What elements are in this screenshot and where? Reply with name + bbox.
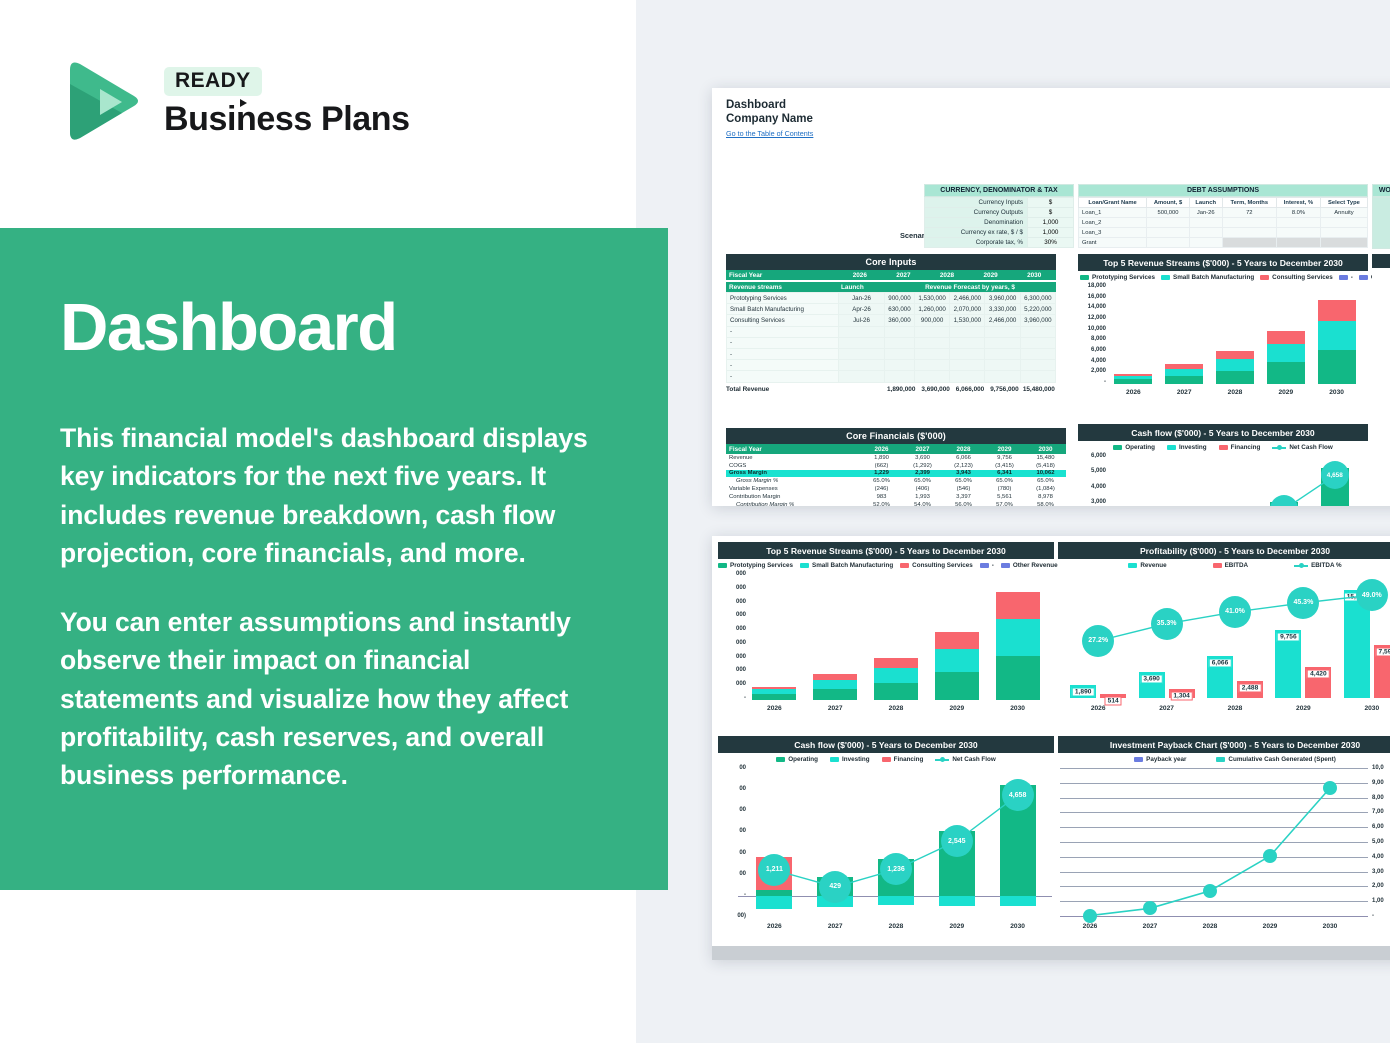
legend-swatch <box>900 563 909 568</box>
stream-value[interactable] <box>885 348 915 359</box>
chart-revenue-streams-top: Top 5 Revenue Streams ($'000) - 5 Years … <box>1078 254 1368 419</box>
legend-item[interactable]: Prototyping Services <box>1080 274 1155 281</box>
legend-item[interactable]: - <box>1339 274 1353 281</box>
legend-swatch <box>1294 565 1308 567</box>
financial-value: 5,561 <box>984 493 1025 501</box>
legend-swatch <box>800 563 809 568</box>
currency-value[interactable]: 30% <box>1028 238 1074 248</box>
table-row: Variable Expenses(246)(406)(546)(780)(1,… <box>726 485 1066 493</box>
stacked-bar[interactable] <box>1318 300 1356 384</box>
stream-launch[interactable] <box>839 360 885 371</box>
stacked-bar[interactable] <box>874 658 918 700</box>
chart-plot-area: 202620272028202920301,8905143,6901,3046,… <box>1058 570 1390 718</box>
chart-cash-flow-top: Cash flow ($'000) - 5 Years to December … <box>1078 424 1368 506</box>
legend-item[interactable]: Operating <box>1113 444 1155 451</box>
legend-label: Operating <box>788 756 818 763</box>
stream-value[interactable] <box>914 337 949 348</box>
chart-profitability: Profitability ($'000) - 5 Years to Decem… <box>1058 542 1390 732</box>
financial-line-label: Revenue <box>726 454 861 462</box>
stream-value[interactable]: 1,530,000 <box>914 293 949 304</box>
data-bubble: 1,211 <box>758 854 790 886</box>
stream-launch[interactable]: Jan-26 <box>839 293 885 304</box>
data-bubble: 429 <box>819 871 851 903</box>
currency-row: Corporate tax, %30% <box>925 238 1074 248</box>
x-axis: 20262027202820292030 <box>718 702 1054 718</box>
stream-value[interactable]: 3,330,000 <box>985 304 1020 315</box>
financial-value: 2,399 <box>902 470 943 478</box>
bar-segment <box>996 592 1040 620</box>
y-tick-label: 10,000 <box>1088 326 1106 332</box>
debt-cell[interactable] <box>1189 228 1222 238</box>
debt-cell[interactable]: Annuity <box>1320 208 1367 218</box>
currency-value[interactable]: 1,000 <box>1028 228 1074 238</box>
currency-key: Currency ex rate, $ / $ <box>925 228 1028 238</box>
legend-item[interactable]: Prototyping Services <box>718 562 793 569</box>
stream-value[interactable]: 2,466,000 <box>950 293 985 304</box>
stacked-bar[interactable] <box>813 674 857 700</box>
stream-launch[interactable] <box>839 348 885 359</box>
stream-value[interactable] <box>985 371 1020 382</box>
bar-segment <box>752 694 796 700</box>
currency-key: Currency Inputs <box>925 198 1028 208</box>
chart-title: Cash flow ($'000) - 5 Years to December … <box>1078 424 1368 441</box>
stream-name[interactable]: - <box>727 326 839 337</box>
table-row: COGS(662)(1,292)(2,123)(3,415)(5,418) <box>726 462 1066 470</box>
y-tick-label: 14,000 <box>1088 304 1106 310</box>
debt-cell[interactable]: Loan_2 <box>1079 218 1147 228</box>
legend-item[interactable]: Financing <box>882 756 924 763</box>
y-tick-label: 4,000 <box>1091 358 1106 364</box>
stream-value[interactable]: 630,000 <box>885 304 915 315</box>
stream-value[interactable]: 900,000 <box>914 315 949 326</box>
legend-label: Cumulative Cash Generated (Spent) <box>1228 756 1335 763</box>
financial-value: (2,123) <box>943 462 984 470</box>
bar-segment <box>935 649 979 672</box>
stream-name[interactable]: - <box>727 337 839 348</box>
financial-line-label: Contribution Margin % <box>726 501 861 506</box>
core-financials-year-header: Fiscal Year 2026 2027 2028 2029 2030 <box>726 444 1066 454</box>
legend-label: Financing <box>894 756 924 763</box>
table-row: Gross Margin1,2292,3993,9436,34110,062 <box>726 470 1066 478</box>
stream-value[interactable] <box>985 348 1020 359</box>
currency-key: Denomination <box>925 218 1028 228</box>
hero-paragraph-2: You can enter assumptions and instantly … <box>60 603 612 795</box>
bar-segment <box>874 683 918 700</box>
forecast-label: Revenue Forecast by years, $ <box>884 282 1056 292</box>
stream-value[interactable] <box>985 326 1020 337</box>
table-row: Grant <box>1079 238 1368 248</box>
currency-block-header: CURRENCY, DENOMINATOR & TAX <box>924 184 1074 197</box>
x-tick-label: 2027 <box>828 705 843 712</box>
table-row: - <box>727 337 1056 348</box>
table-row: - <box>727 326 1056 337</box>
stacked-bar[interactable] <box>1267 331 1305 384</box>
bar-segment <box>935 632 979 649</box>
currency-value[interactable]: 1,000 <box>1028 218 1074 228</box>
x-tick-label: 2028 <box>1228 389 1243 396</box>
y-tick-label: 8,000 <box>1091 336 1106 342</box>
bar-segment <box>813 680 857 689</box>
bar-segment <box>1114 379 1152 384</box>
legend-swatch <box>1134 757 1143 762</box>
stream-value[interactable] <box>1020 348 1055 359</box>
stream-value[interactable] <box>885 337 915 348</box>
data-point-marker <box>1143 901 1157 915</box>
debt-cell[interactable]: 8.0% <box>1277 208 1321 218</box>
stream-value[interactable] <box>985 337 1020 348</box>
revenue-streams-label: Revenue streams <box>726 282 838 292</box>
pct-bubble: 49.0% <box>1356 579 1388 611</box>
table-row: Gross Margin %65.0%65.0%65.0%65.0%65.0% <box>726 477 1066 485</box>
core-financials-title: Core Financials ($'000) <box>726 428 1066 444</box>
legend-item[interactable]: Payback year <box>1134 756 1186 763</box>
legend-item[interactable]: Other Revenue <box>1001 562 1058 569</box>
financial-line-label: COGS <box>726 462 861 470</box>
core-financials-table: Revenue1,8903,6906,0669,75615,480COGS(66… <box>726 454 1066 506</box>
legend-swatch <box>1167 445 1176 450</box>
stream-value[interactable]: 1,530,000 <box>950 315 985 326</box>
legend-label: Revenue <box>1140 562 1166 569</box>
stacked-bar[interactable] <box>752 687 796 700</box>
legend-label: - <box>1351 274 1353 281</box>
debt-cell[interactable] <box>1277 228 1321 238</box>
legend-item[interactable]: Small Batch Manufacturing <box>800 562 893 569</box>
stream-value[interactable] <box>914 326 949 337</box>
stream-launch[interactable]: Jul-26 <box>839 315 885 326</box>
pct-bubble: 35.3% <box>1151 608 1183 640</box>
legend-label: Small Batch Manufacturing <box>1173 274 1254 281</box>
debt-column-header: Loan/Grant Name <box>1079 198 1147 208</box>
legend-swatch <box>1359 275 1368 280</box>
stream-name[interactable]: Prototyping Services <box>727 293 839 304</box>
x-tick-label: 2028 <box>889 705 904 712</box>
debt-assumptions-block: DEBT ASSUMPTIONS Loan/Grant NameAmount, … <box>1078 184 1368 248</box>
chart-revenue-streams-bottom: Top 5 Revenue Streams ($'000) - 5 Years … <box>718 542 1054 732</box>
bar-segment <box>1165 376 1203 384</box>
legend-label: Investing <box>1179 444 1207 451</box>
financial-value: (5,418) <box>1025 462 1066 470</box>
stream-value[interactable]: 1,260,000 <box>914 304 949 315</box>
bar-segment <box>1165 369 1203 376</box>
financial-value: 8,978 <box>1025 493 1066 501</box>
y-axis: -2,0004,0006,0008,00010,00012,00014,0001… <box>1078 282 1108 402</box>
legend-swatch <box>830 757 839 762</box>
stream-value[interactable]: 5,220,000 <box>1020 304 1055 315</box>
legend-swatch <box>935 759 949 761</box>
financial-line-label: Variable Expenses <box>726 485 861 493</box>
legend-swatch <box>1339 275 1348 280</box>
pct-bubble: 45.3% <box>1287 587 1319 619</box>
table-row: Contribution Margin %52.0%54.0%56.0%57.0… <box>726 501 1066 506</box>
financial-value: 54.0% <box>902 501 943 506</box>
dashboard-screenshot-top: Dashboard Company Name Go to the Table o… <box>712 88 1390 506</box>
bar-segment <box>813 689 857 700</box>
core-inputs-table: Prototyping ServicesJan-26900,0001,530,0… <box>726 292 1056 383</box>
working-capital-block: WORKING CAPITAL A De <box>1372 184 1390 249</box>
y-tick-label: 2,000 <box>1091 368 1106 374</box>
financial-value: 52.0% <box>861 501 902 506</box>
stream-launch[interactable] <box>839 337 885 348</box>
stacked-bar[interactable] <box>1216 351 1254 384</box>
play-logo-icon <box>60 58 142 144</box>
debt-cell[interactable] <box>1222 228 1276 238</box>
financial-value: 3,397 <box>943 493 984 501</box>
chart-legend: OperatingInvestingFinancingNet Cash Flow <box>718 753 1054 764</box>
stream-value[interactable] <box>1020 360 1055 371</box>
legend-swatch <box>1080 275 1089 280</box>
table-row: Loan_3 <box>1079 228 1368 238</box>
y-tick-label: 18,000 <box>1088 283 1106 289</box>
stacked-bar[interactable] <box>996 592 1040 700</box>
financial-value: 9,756 <box>984 454 1025 462</box>
chart-plot-area: -2,0004,0006,0008,00010,00012,00014,0001… <box>1078 282 1368 402</box>
stacked-bar[interactable] <box>1114 374 1152 384</box>
legend-item[interactable]: - <box>980 562 994 569</box>
financial-value: 58.0% <box>1025 501 1066 506</box>
stream-value[interactable]: 2,070,000 <box>950 304 985 315</box>
debt-column-header: Interest, % <box>1277 198 1321 208</box>
bar-segment <box>1318 300 1356 322</box>
bar-segment <box>996 619 1040 656</box>
core-inputs-section: Core Inputs Fiscal Year 2026 2027 2028 2… <box>726 254 1056 393</box>
debt-cell[interactable] <box>1189 238 1222 248</box>
bar-segment <box>996 656 1040 700</box>
stacked-bar[interactable] <box>935 632 979 700</box>
debt-column-header: Launch <box>1189 198 1222 208</box>
debt-cell[interactable]: Loan_1 <box>1079 208 1147 218</box>
legend-item[interactable]: EBITDA <box>1213 562 1248 569</box>
core-inputs-subheader: Revenue streams Launch Revenue Forecast … <box>726 282 1056 292</box>
working-capital-body: A De <box>1372 197 1390 249</box>
x-tick-label: 2027 <box>1177 389 1192 396</box>
legend-item[interactable]: Net Cash Flow <box>935 756 995 763</box>
legend-swatch <box>1216 757 1225 762</box>
bar-segment <box>935 672 979 700</box>
debt-table: Loan/Grant NameAmount, $LaunchTerm, Mont… <box>1078 197 1368 248</box>
y-tick-label: 6,000 <box>1091 347 1106 353</box>
data-bubble: 4,658 <box>1002 779 1034 811</box>
financial-value: (406) <box>902 485 943 493</box>
stream-value[interactable] <box>885 371 915 382</box>
financial-value: 6,341 <box>984 470 1025 478</box>
year-2027: 2027 <box>882 270 926 280</box>
x-tick-label: 2030 <box>1010 705 1025 712</box>
debt-cell[interactable] <box>1189 218 1222 228</box>
stream-value[interactable] <box>985 360 1020 371</box>
bars-container <box>744 572 1048 700</box>
stream-value[interactable] <box>950 326 985 337</box>
legend-swatch <box>1113 445 1122 450</box>
chart-legend: OperatingInvestingFinancingNet Cash Flow <box>1078 441 1368 452</box>
financial-value: 65.0% <box>943 477 984 485</box>
currency-key: Currency Outputs <box>925 208 1028 218</box>
fiscal-year-label: Fiscal Year <box>726 270 838 280</box>
stream-value[interactable]: 3,960,000 <box>985 293 1020 304</box>
stream-value[interactable]: 6,300,000 <box>1020 293 1055 304</box>
debt-cell[interactable] <box>1277 238 1321 248</box>
stream-value[interactable] <box>914 371 949 382</box>
stream-name[interactable]: Small Batch Manufacturing <box>727 304 839 315</box>
stream-name[interactable]: - <box>727 371 839 382</box>
financial-value: 57.0% <box>984 501 1025 506</box>
stream-name[interactable]: Consulting Services <box>727 315 839 326</box>
x-tick-label: 2029 <box>1278 389 1293 396</box>
stream-value[interactable] <box>1020 337 1055 348</box>
financial-value: 3,943 <box>943 470 984 478</box>
chart-legend: RevenueEBITDAEBITDA % <box>1058 559 1390 570</box>
financial-line-label: Gross Margin <box>726 470 861 478</box>
table-row: Small Batch ManufacturingApr-26630,0001,… <box>727 304 1056 315</box>
core-inputs-total-row: Total Revenue 1,890,000 3,690,000 6,066,… <box>726 383 1056 393</box>
y-tick-label: 16,000 <box>1088 294 1106 300</box>
chart-title: Top 5 Revenue Streams ($'000) - 5 Years … <box>1078 254 1368 271</box>
legend-item[interactable]: Consulting Services <box>1260 274 1333 281</box>
pct-bubble: 27.2% <box>1082 625 1114 657</box>
financial-value: (1,084) <box>1025 485 1066 493</box>
chart-investment-payback: Investment Payback Chart ($'000) - 5 Yea… <box>1058 736 1390 952</box>
currency-row: Currency Inputs$ <box>925 198 1074 208</box>
x-axis: 20262027202820292030 <box>1078 386 1368 402</box>
bar-segment <box>1267 362 1305 384</box>
total-revenue-label: Total Revenue <box>726 386 838 393</box>
financial-value: (246) <box>861 485 902 493</box>
legend-label: Payback year <box>1146 756 1186 763</box>
stream-value[interactable] <box>950 337 985 348</box>
chart-plot-area: -000000000000000000000000000202620272028… <box>718 570 1054 718</box>
debt-cell[interactable] <box>1147 218 1190 228</box>
bar-segment <box>1216 351 1254 359</box>
bar-segment <box>1267 331 1305 344</box>
financial-value: 6,066 <box>943 454 984 462</box>
legend-swatch <box>1001 563 1010 568</box>
stream-value[interactable] <box>1020 326 1055 337</box>
debt-cell[interactable] <box>1277 218 1321 228</box>
currency-row: Denomination1,000 <box>925 218 1074 228</box>
debt-cell[interactable]: 72 <box>1222 208 1276 218</box>
legend-swatch <box>1213 563 1222 568</box>
sheet-company-name: Company Name <box>726 112 813 126</box>
currency-value[interactable]: $ <box>1028 208 1074 218</box>
year-2029: 2029 <box>969 270 1013 280</box>
debt-cell[interactable] <box>1320 228 1367 238</box>
stream-value[interactable]: 3,960,000 <box>1020 315 1055 326</box>
legend-item[interactable]: Consulting Services <box>900 562 973 569</box>
legend-label: Prototyping Services <box>730 562 793 569</box>
data-point-marker <box>1083 909 1097 923</box>
debt-cell[interactable] <box>1222 218 1276 228</box>
stream-value[interactable] <box>950 360 985 371</box>
financial-value: (3,415) <box>984 462 1025 470</box>
table-row: Loan_2 <box>1079 218 1368 228</box>
debt-cell[interactable]: Grant <box>1079 238 1147 248</box>
bar-segment <box>1318 350 1356 384</box>
currency-value[interactable]: $ <box>1028 198 1074 208</box>
debt-cell[interactable]: Loan_3 <box>1079 228 1147 238</box>
stream-launch[interactable] <box>839 371 885 382</box>
legend-item[interactable]: EBITDA % <box>1294 562 1342 569</box>
stream-value[interactable] <box>885 326 915 337</box>
chart-cash-flow-bottom: Cash flow ($'000) - 5 Years to December … <box>718 736 1054 952</box>
chart-plot-area: 00)-000000000000202620272028202920301,21… <box>718 764 1054 936</box>
table-of-contents-link[interactable]: Go to the Table of Contents <box>726 129 813 138</box>
brand-logo: READY Business Plans <box>60 58 410 144</box>
bar-segment <box>1216 371 1254 384</box>
stream-name[interactable]: - <box>727 348 839 359</box>
legend-item[interactable]: Investing <box>1167 444 1207 451</box>
legend-item[interactable]: Cumulative Cash Generated (Spent) <box>1216 756 1335 763</box>
stream-value[interactable] <box>1020 371 1055 382</box>
legend-label: - <box>992 562 994 569</box>
legend-swatch <box>1260 275 1269 280</box>
stream-launch[interactable] <box>839 326 885 337</box>
legend-item[interactable]: Financing <box>1219 444 1261 451</box>
financial-value: 65.0% <box>861 477 902 485</box>
data-point-marker <box>1263 849 1277 863</box>
logo-triangle-accent-icon <box>240 99 247 107</box>
debt-cell[interactable] <box>1147 238 1190 248</box>
legend-label: Operating <box>1125 444 1155 451</box>
stream-value[interactable]: 2,466,000 <box>985 315 1020 326</box>
chart-plot-area: (1,000)-1,0002,0003,0004,0005,0006,00020… <box>1078 452 1368 506</box>
stream-value[interactable]: 900,000 <box>885 293 915 304</box>
year-2026: 2026 <box>838 270 882 280</box>
stream-launch[interactable]: Apr-26 <box>839 304 885 315</box>
stream-name[interactable]: - <box>727 360 839 371</box>
stream-value[interactable]: 360,000 <box>885 315 915 326</box>
table-row: - <box>727 348 1056 359</box>
stream-value[interactable] <box>885 360 915 371</box>
data-bubble: 2,545 <box>941 825 973 857</box>
stream-value[interactable] <box>914 360 949 371</box>
debt-cell[interactable]: 500,000 <box>1147 208 1190 218</box>
legend-label: EBITDA <box>1225 562 1248 569</box>
working-capital-header: WORKING CAPITAL <box>1372 184 1390 197</box>
table-row: Contribution Margin9831,9933,3975,5618,9… <box>726 493 1066 501</box>
legend-item[interactable]: Net Cash Flow <box>1272 444 1332 451</box>
legend-item[interactable]: Investing <box>830 756 870 763</box>
debt-column-header: Select Type <box>1320 198 1367 208</box>
stream-value[interactable] <box>914 348 949 359</box>
debt-cell[interactable] <box>1320 218 1367 228</box>
table-row: - <box>727 371 1056 382</box>
table-row: Consulting ServicesJul-26360,000900,0001… <box>727 315 1056 326</box>
stream-value[interactable] <box>950 371 985 382</box>
core-financials-section: Core Financials ($'000) Fiscal Year 2026… <box>726 428 1066 506</box>
legend-swatch <box>882 757 891 762</box>
bar-segment <box>874 668 918 682</box>
financial-value: 1,229 <box>861 470 902 478</box>
debt-cell[interactable] <box>1222 238 1276 248</box>
debt-cell[interactable] <box>1147 228 1190 238</box>
legend-swatch <box>980 563 989 568</box>
data-bubble: 4,658 <box>1321 461 1349 489</box>
legend-item[interactable]: Revenue <box>1128 562 1166 569</box>
stream-value[interactable] <box>950 348 985 359</box>
year-2030: 2030 <box>1012 270 1056 280</box>
debt-cell[interactable] <box>1320 238 1367 248</box>
financial-value: 65.0% <box>984 477 1025 485</box>
data-point-marker <box>1323 781 1337 795</box>
financial-value: (780) <box>984 485 1025 493</box>
legend-item[interactable]: Small Batch Manufacturing <box>1161 274 1254 281</box>
debt-cell[interactable]: Jan-26 <box>1189 208 1222 218</box>
y-tick-label: 12,000 <box>1088 315 1106 321</box>
stacked-bar[interactable] <box>1165 364 1203 384</box>
legend-label: EBITDA % <box>1311 562 1342 569</box>
legend-label: Consulting Services <box>912 562 973 569</box>
legend-item[interactable]: Operating <box>776 756 818 763</box>
chart-legend: Payback yearCumulative Cash Generated (S… <box>1058 753 1390 764</box>
